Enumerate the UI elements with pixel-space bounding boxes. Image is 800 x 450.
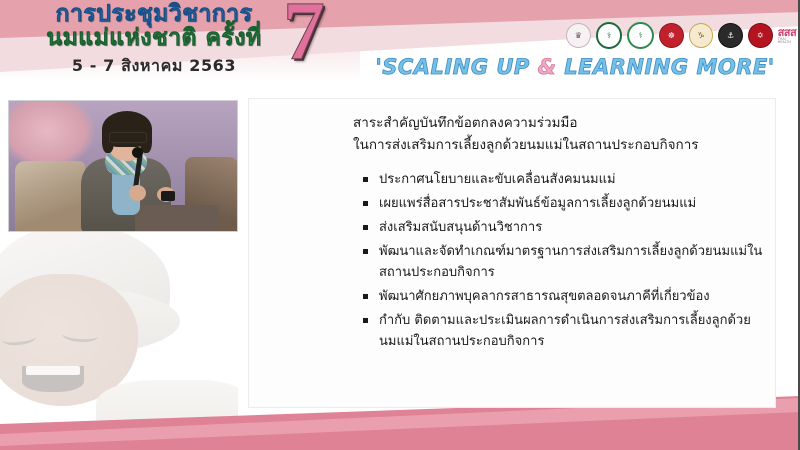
speaker-chair-left [15,161,85,232]
conference-title-line-1: การประชุมวิชาการ [14,2,294,26]
tagline-part-close: LEARNING MORE' [556,55,774,79]
content-heading: สาระสำคัญบันทึกข้อตกลงความร่วมมือ ในการส… [353,113,699,157]
royal-emblem-logo: ♛ [566,23,591,48]
list-item: ส่งเสริมสนับสนุนด้านวิชาการ [363,217,763,238]
ministry-health-logo: ⚕ [596,22,623,49]
conference-date: 5 - 7 สิงหาคม 2563 [14,54,294,79]
sss-foundation-sublabel: THAI HEALTH [778,38,800,45]
conference-title-block: การประชุมวิชาการ นมแม่แห่งชาติ ครั้งที่ … [14,2,294,79]
slide-content-panel: สาระสำคัญบันทึกข้อตกลงความร่วมมือ ในการส… [248,98,776,408]
list-item: เผยแพร่สื่อสารประชาสัมพันธ์ข้อมูลการเลี้… [363,193,763,214]
garuda-emblem-glyph: ♑ [697,31,704,40]
sponsor-logo-strip: ♛ ⚕ ⚕ ☸ ♑ ⚓ ✡ สสสTHAI HEALTH [566,22,800,49]
tagline-part-open: 'SCALING UP [375,55,537,79]
health-department-glyph: ⚕ [638,31,642,40]
tagline-ampersand: & [538,55,557,79]
edition-number-7: 7 [283,0,325,74]
royal-emblem-glyph: ♛ [575,31,582,40]
ministry-health-glyph: ⚕ [607,31,611,40]
list-item: ประกาศนโยบายและขับเคลื่อนสังคมนมแม่ [363,169,763,190]
microphone-head [132,147,143,158]
black-circle-org-glyph: ⚓ [727,31,734,40]
speaker-glasses [109,132,147,143]
content-heading-line-2: ในการส่งเสริมการเลี้ยงลูกด้วยนมแม่ในสถาน… [353,135,699,157]
red-crest-org-glyph: ✡ [757,31,764,40]
baby-teeth [26,366,80,375]
speaker-chair-seat [135,205,219,232]
baby-background-photo [0,232,238,422]
slide-header-banner: การประชุมวิชาการ นมแม่แห่งชาติ ครั้งที่ … [0,0,800,95]
thai-royal-crest-glyph: ☸ [668,31,675,40]
conference-tagline: 'SCALING UP & LEARNING MORE' [360,55,790,79]
presentation-slide: การประชุมวิชาการ นมแม่แห่งชาติ ครั้งที่ … [0,0,800,450]
thai-royal-crest-logo: ☸ [659,23,684,48]
red-crest-org-logo: ✡ [748,23,773,48]
content-heading-line-1: สาระสำคัญบันทึกข้อตกลงความร่วมมือ [353,113,699,135]
black-circle-org-logo: ⚓ [718,23,743,48]
garuda-emblem-logo: ♑ [689,23,714,48]
speaker-hand-holding-mic [129,185,146,201]
list-item: พัฒนาศักยภาพบุคลากรสาธารณสุขตลอดจนภาคีที… [363,286,763,307]
speaker-video-inset[interactable] [8,100,238,232]
health-department-logo: ⚕ [627,22,654,49]
agreement-bullet-list: ประกาศนโยบายและขับเคลื่อนสังคมนมแม่ เผยแ… [363,169,763,355]
conference-title-line-2: นมแม่แห่งชาติ ครั้งที่ [14,26,294,51]
baby-shoulder [96,380,238,422]
sss-foundation-logo: สสสTHAI HEALTH [778,27,800,45]
list-item: พัฒนาและจัดทำเกณฑ์มาตรฐานการส่งเสริมการเ… [363,241,763,283]
presentation-clicker [161,191,175,201]
list-item: กำกับ ติดตามและประเมินผลการดำเนินการส่งเ… [363,310,763,352]
